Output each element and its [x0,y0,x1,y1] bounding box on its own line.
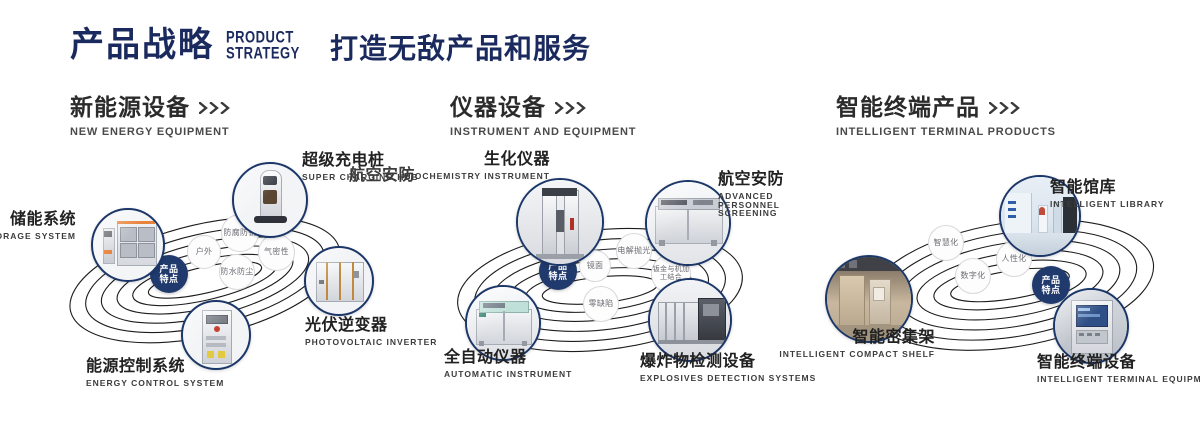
section-title-cn-2: 仪器设备 [450,96,636,119]
explosives-detection-photo [650,280,730,360]
section-title-en-3: INTELLIGENT TERMINAL PRODUCTS [836,126,1056,138]
feature-pill-digital: 数字化 [955,258,991,294]
caption-en: BIOCHEMISTRY INSTRUMENT [380,172,550,181]
diagram-group-instrument: 产品 特点 镜面 电解抛光 钣金与机加工结合 零缺陷 [400,150,820,390]
photo-bubble-super-charging-hub [232,162,308,238]
caption-cn: 智能终端设备 [1037,355,1200,371]
item-caption-biochemistry-instrument: 生化仪器 BIOCHEMISTRY INSTRUMENT [380,152,550,181]
photo-bubble-biochemistry-instrument [516,178,604,266]
section-title-cn-3: 智能终端产品 [836,96,1056,119]
chevron-right-triple-icon [555,102,589,114]
caption-en: ENERGY STORAGE SYSTEM [0,232,76,241]
caption-en: AUTOMATIC INSTRUMENT [444,370,572,379]
section-heading-new-energy: 新能源设备 NEW ENERGY EQUIPMENT [70,96,233,138]
feature-pill-airtight: 气密性 [258,234,295,271]
photo-bubble-energy-storage-system [91,208,165,282]
poster-header: 产品战略 PRODUCT STRATEGY [70,28,300,62]
feature-pill-zero-defect: 零缺陷 [583,286,619,322]
section-title-cn-1: 新能源设备 [70,96,233,119]
caption-en: INTELLIGENT LIBRARY [1050,200,1165,209]
chevron-right-triple-icon [199,102,233,114]
caption-cn: 能源控制系统 [86,359,224,375]
photo-bubble-photovoltaic-inverter [304,246,374,316]
security-gate-photo [518,180,602,264]
caption-cn: 全自动仪器 [444,350,572,366]
item-caption-automatic-instrument: 全自动仪器 AUTOMATIC INSTRUMENT [444,350,572,379]
caption-en: INTELLIGENT COMPACT SHELF [775,350,935,359]
item-caption-energy-control-system: 能源控制系统 ENERGY CONTROL SYSTEM [86,359,224,388]
badge-line1: 产品 [1041,275,1060,285]
caption-en: INTELLIGENT TERMINAL EQUIPMENT [1037,375,1200,384]
page-title-english-line1: PRODUCT [226,28,300,45]
item-caption-intelligent-library: 智能馆库 INTELLIGENT LIBRARY [1050,180,1165,209]
inverter-photo [306,248,372,314]
section-heading-intelligent: 智能终端产品 INTELLIGENT TERMINAL PRODUCTS [836,96,1056,138]
feature-pill-waterproof: 防水防尘 [219,254,255,290]
photo-bubble-explosives-detection-systems [648,278,732,362]
section-title-en-1: NEW ENERGY EQUIPMENT [70,126,233,138]
caption-cn: 生化仪器 [380,152,550,168]
diagram-group-intelligent-terminal: 智慧化 数字化 人性化 产品 特点 [800,150,1200,390]
charging-hub-photo [234,164,306,236]
diagram-group-new-energy: 产品 特点 户外 防腐防锈 防水防尘 气密性 [0,150,420,380]
poster-canvas: 产品战略 PRODUCT STRATEGY 打造无敌产品和服务 新能源设备 NE… [0,0,1200,422]
feature-pill-outdoor: 户外 [187,235,221,269]
chevron-right-triple-icon [989,102,1023,114]
page-title-english: PRODUCT STRATEGY [226,28,300,61]
caption-en: EXPLOSIVES DETECTION SYSTEMS [640,374,816,383]
section-title-text-2: 仪器设备 [450,96,546,119]
caption-en: ENERGY CONTROL SYSTEM [86,379,224,388]
section-title-text-3: 智能终端产品 [836,96,980,119]
page-title: 产品战略 [70,28,214,62]
badge-line2: 特点 [548,271,567,281]
terminal-kiosk-photo [1055,290,1127,362]
caption-cn: 智能馆库 [1050,180,1165,196]
caption-cn: 智能密集架 [775,330,935,346]
item-caption-intelligent-compact-shelf: 智能密集架 INTELLIGENT COMPACT SHELF [775,330,935,359]
page-slogan: 打造无敌产品和服务 [330,35,591,63]
section-heading-instrument: 仪器设备 INSTRUMENT AND EQUIPMENT [450,96,636,138]
page-title-english-line2: STRATEGY [226,45,300,62]
item-caption-energy-storage-system: 储能系统 ENERGY STORAGE SYSTEM [0,212,76,241]
photo-bubble-intelligent-terminal-equipment [1053,288,1129,364]
section-title-en-2: INSTRUMENT AND EQUIPMENT [450,126,636,138]
feature-pill-smart: 智慧化 [928,225,964,261]
caption-cn: 储能系统 [0,212,76,228]
item-caption-intelligent-terminal-equipment: 智能终端设备 INTELLIGENT TERMINAL EQUIPMENT [1037,355,1200,384]
section-title-text-1: 新能源设备 [70,96,190,119]
energy-storage-photo [93,210,163,280]
screening-machine-photo [647,182,729,264]
